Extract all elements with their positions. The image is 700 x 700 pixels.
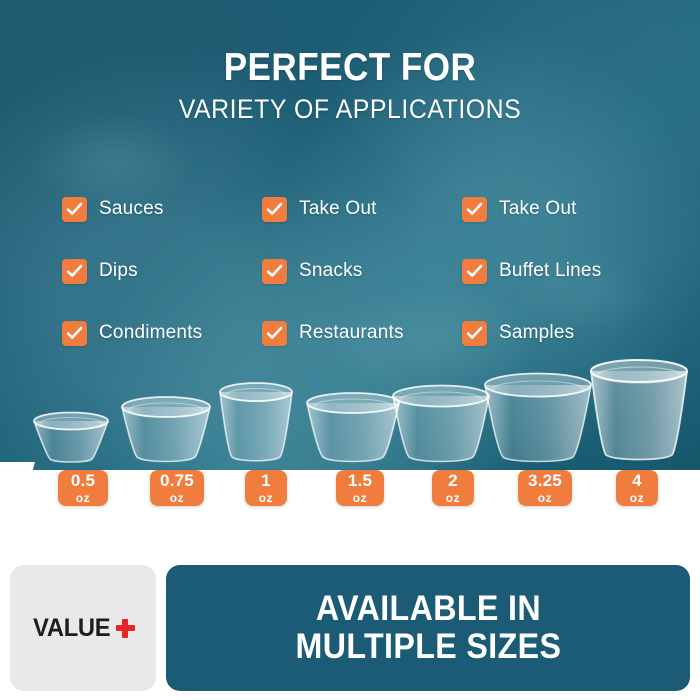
size-badge-0-75-oz: 0.75 oz — [150, 470, 204, 506]
size-badge-unit: oz — [446, 492, 461, 504]
size-badge-unit: oz — [76, 492, 91, 504]
size-badge-value: 0.5 — [71, 472, 95, 489]
size-badge-unit: oz — [170, 492, 185, 504]
size-badge-value: 1.5 — [348, 472, 372, 489]
size-badge-0-5-oz: 0.5 oz — [58, 470, 108, 506]
size-badge-value: 4 — [632, 472, 642, 489]
size-badge-unit: oz — [538, 492, 553, 504]
size-badge-value: 3.25 — [528, 472, 562, 489]
size-badge-1-5-oz: 1.5 oz — [336, 470, 384, 506]
size-badge-value: 1 — [261, 472, 271, 489]
size-badge-row: 0.5 oz 0.75 oz 1 oz 1.5 oz 2 oz 3.25 oz … — [0, 0, 700, 700]
size-badge-unit: oz — [630, 492, 645, 504]
size-badge-unit: oz — [259, 492, 274, 504]
size-badge-4-oz: 4 oz — [616, 470, 658, 506]
size-badge-value: 0.75 — [160, 472, 194, 489]
size-badge-3-25-oz: 3.25 oz — [518, 470, 572, 506]
product-feature-poster: PERFECT FOR VARIETY OF APPLICATIONS Sauc… — [0, 0, 700, 700]
size-badge-value: 2 — [448, 472, 458, 489]
size-badge-unit: oz — [353, 492, 368, 504]
size-badge-1-oz: 1 oz — [245, 470, 287, 506]
size-badge-2-oz: 2 oz — [432, 470, 474, 506]
